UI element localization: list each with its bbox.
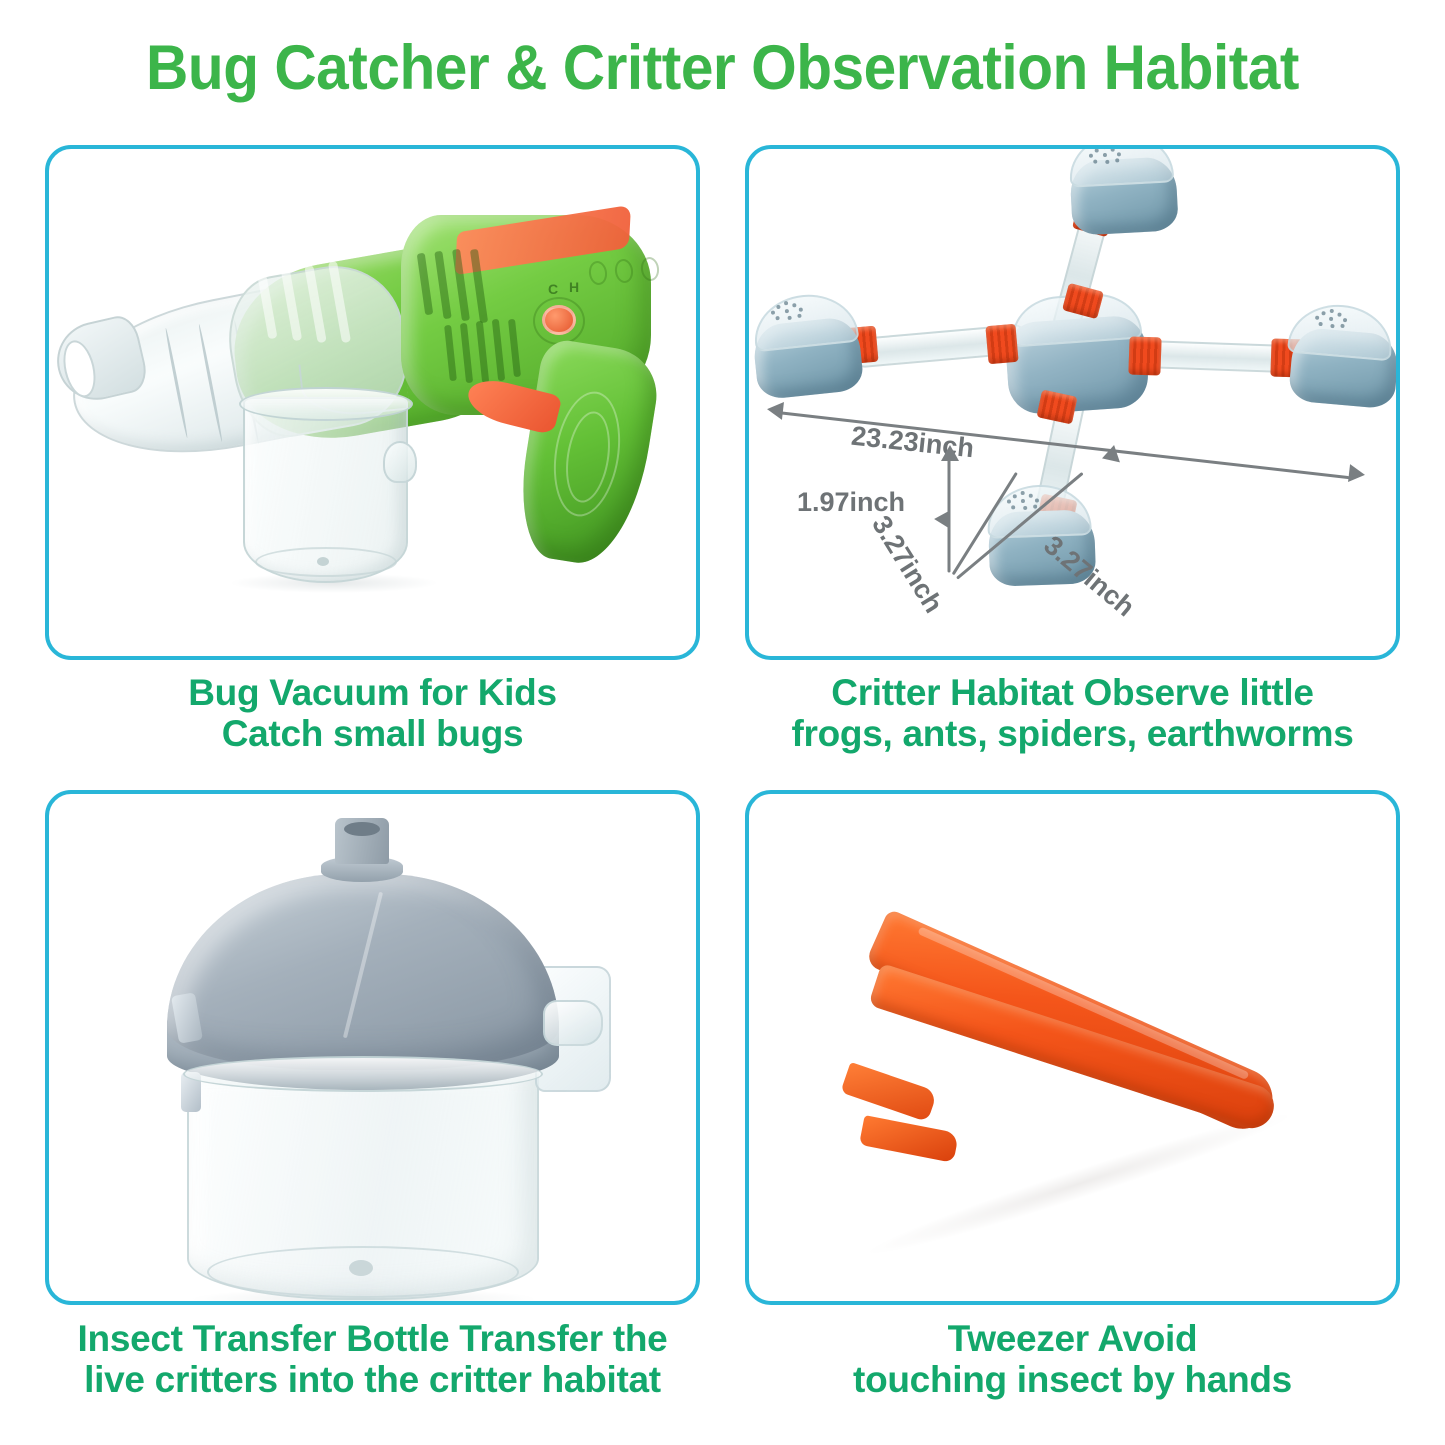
panel-critter-habitat[interactable]: 23.23inch 1.97inch 3.27inch 3.27inch — [745, 145, 1400, 660]
caption-line: Bug Vacuum for Kids — [45, 672, 700, 713]
vacuum-grip-pips — [589, 259, 669, 285]
caption-bug-vacuum: Bug Vacuum for Kids Catch small bugs — [45, 672, 700, 755]
caption-tweezer: Tweezer Avoid touching insect by hands — [745, 1318, 1400, 1401]
habitat-connector-ring — [1128, 336, 1161, 375]
dimension-arrowhead-up — [941, 445, 959, 461]
dimension-arrowhead-right — [1348, 464, 1366, 484]
caption-insect-transfer-bottle: Insect Transfer Bottle Transfer the live… — [45, 1318, 700, 1401]
dimension-label-depth-left: 3.27inch — [865, 510, 949, 618]
vacuum-pip — [587, 260, 608, 286]
bottle-jar-center-dot — [349, 1260, 373, 1276]
transfer-bottle-illustration — [49, 794, 700, 1305]
dimension-arrowhead-left — [766, 400, 784, 420]
caption-line: Tweezer Avoid — [745, 1318, 1400, 1359]
vacuum-jar-center-dot — [317, 557, 329, 566]
panel-insect-transfer-bottle[interactable] — [45, 790, 700, 1305]
caption-critter-habitat: Critter Habitat Observe little frogs, an… — [745, 672, 1400, 755]
vacuum-switch-marking: H — [569, 279, 579, 295]
vacuum-pip — [639, 256, 660, 282]
dimension-arrowhead-depth-left — [934, 505, 958, 528]
caption-line: touching insect by hands — [745, 1359, 1400, 1400]
habitat-vent-holes-left — [770, 299, 806, 324]
caption-line: live critters into the critter habitat — [45, 1359, 700, 1400]
caption-line: Insect Transfer Bottle Transfer the — [45, 1318, 700, 1359]
caption-line: frogs, ants, spiders, earthworms — [745, 713, 1400, 754]
bottle-jar-rim — [183, 1056, 543, 1092]
vacuum-jar-latch-tab[interactable] — [383, 441, 417, 483]
tweezer-illustration — [749, 794, 1400, 1305]
vacuum-switch-marking: C — [548, 281, 558, 297]
panel-border-critter-habitat: 23.23inch 1.97inch 3.27inch 3.27inch — [745, 145, 1400, 660]
bottle-spout — [335, 818, 389, 864]
panel-bug-vacuum[interactable]: C H — [45, 145, 700, 660]
bottle-tab-nub — [543, 1000, 603, 1046]
vacuum-jar-rim — [239, 387, 413, 421]
vacuum-power-button[interactable] — [542, 305, 576, 335]
vacuum-pip — [613, 258, 634, 284]
caption-line: Catch small bugs — [45, 713, 700, 754]
tweezer-tip-lower — [859, 1115, 959, 1163]
panel-border-bug-vacuum: C H — [45, 145, 700, 660]
habitat-vent-holes-right — [1314, 308, 1350, 333]
habitat-connector-ring — [985, 324, 1018, 364]
caption-line: Critter Habitat Observe little — [745, 672, 1400, 713]
panel-border-insect-transfer-bottle — [45, 790, 700, 1305]
habitat-vent-holes-top — [1088, 145, 1123, 168]
bug-vacuum-illustration: C H — [49, 149, 700, 660]
panel-border-tweezer — [745, 790, 1400, 1305]
tweezer-tip-upper — [840, 1062, 937, 1122]
critter-habitat-illustration: 23.23inch 1.97inch 3.27inch 3.27inch — [749, 149, 1400, 660]
panel-tweezer[interactable] — [745, 790, 1400, 1305]
habitat-connector-ring — [1036, 390, 1077, 425]
